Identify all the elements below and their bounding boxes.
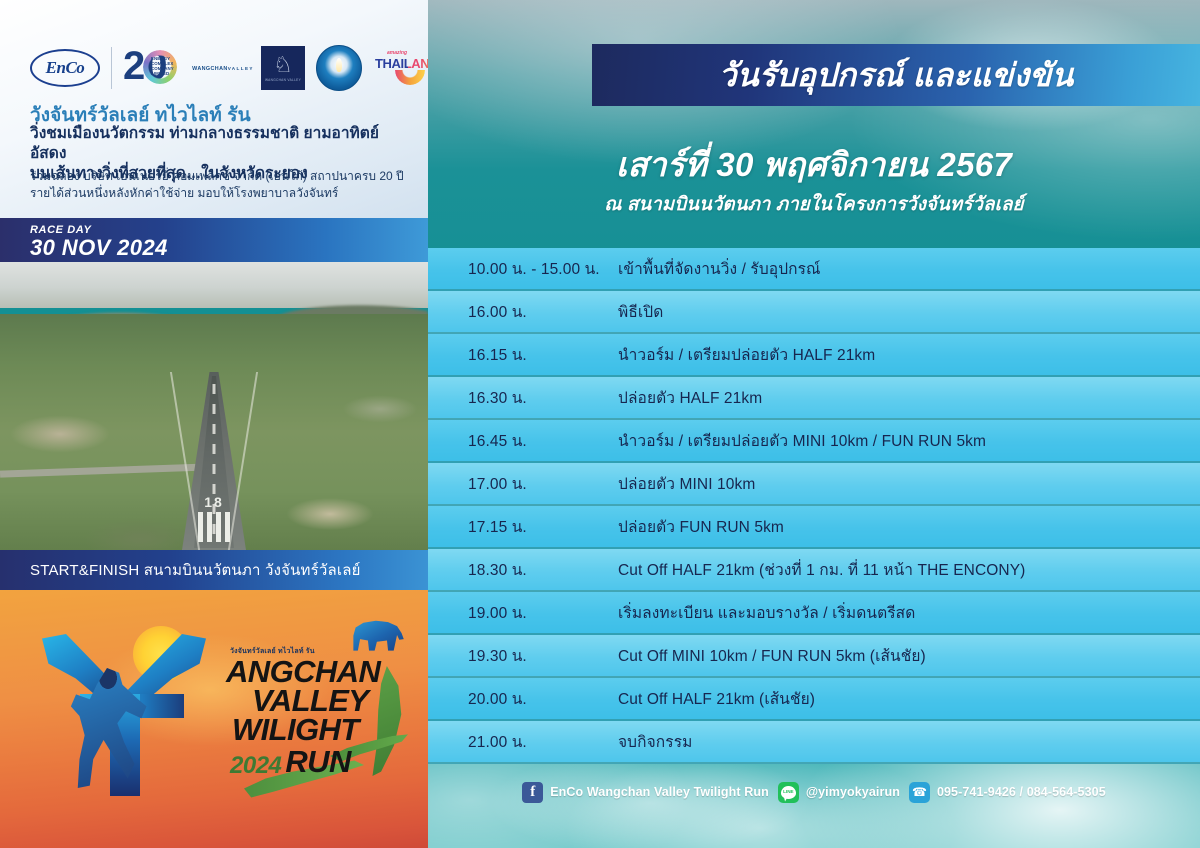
row-time: 16.45 น.: [428, 428, 618, 453]
table-row: 16.15 น. นำวอร์ม / เตรียมปล่อยตัว HALF 2…: [428, 334, 1200, 377]
phone-contact[interactable]: ☎ 095-741-9426 / 084-564-5305: [909, 782, 1106, 803]
start-finish-text: START&FINISH สนามบินนวัตนภา วังจันทร์วัล…: [30, 558, 361, 582]
photo-runway-threshold-bars: [198, 512, 230, 542]
footer-contact-bar: f EnCo Wangchan Valley Twilight Run LINE…: [428, 772, 1200, 812]
thailand-swoosh-icon: [395, 70, 425, 85]
row-time: 18.30 น.: [428, 557, 618, 582]
event-description-line1: ร่วมฉลอง บริษัท เอนเนอร์ยี่ คอมเพล็กซ์ จ…: [30, 168, 420, 185]
row-description: เริ่มลงทะเบียน และมอบรางวัล / เริ่มดนตรี…: [618, 600, 1200, 625]
table-row: 18.30 น. Cut Off HALF 21km (ช่วงที่ 1 กม…: [428, 549, 1200, 592]
sponsor-logo-strip: EnCo 20 ENERGY COMPLEX COMPANY LIMITED W…: [30, 42, 428, 94]
line-icon[interactable]: LINE: [778, 782, 799, 803]
facebook-label: EnCo Wangchan Valley Twilight Run: [550, 785, 769, 799]
row-description: Cut Off MINI 10km / FUN RUN 5km (เส้นชัย…: [618, 643, 1200, 668]
row-description: Cut Off HALF 21km (เส้นชัย): [618, 686, 1200, 711]
row-description: Cut Off HALF 21km (ช่วงที่ 1 กม. ที่ 11 …: [618, 557, 1200, 582]
event-logo-line4: 2024 RUN: [226, 744, 426, 780]
table-row: 19.00 น. เริ่มลงทะเบียน และมอบรางวัล / เ…: [428, 592, 1200, 635]
event-description: ร่วมฉลอง บริษัท เอนเนอร์ยี่ คอมเพล็กซ์ จ…: [30, 168, 420, 202]
row-description: นำวอร์ม / เตรียมปล่อยตัว HALF 21km: [618, 342, 1200, 367]
row-time: 16.15 น.: [428, 342, 618, 367]
row-description: นำวอร์ม / เตรียมปล่อยตัว MINI 10km / FUN…: [618, 428, 1200, 453]
row-description: ปล่อยตัว HALF 21km: [618, 385, 1200, 410]
table-row: 16.45 น. นำวอร์ม / เตรียมปล่อยตัว MINI 1…: [428, 420, 1200, 463]
race-day-band: RACE DAY 30 NOV 2024: [0, 218, 428, 262]
event-logo-panel: วังจันทร์วัลเลย์ ทไวไลท์ รัน ANGCHAN VAL…: [0, 590, 428, 848]
energy-complex-20-logo: 20 ENERGY COMPLEX COMPANY LIMITED: [123, 44, 185, 92]
table-row: 20.00 น. Cut Off HALF 21km (เส้นชัย): [428, 678, 1200, 721]
row-description: ปล่อยตัว MINI 10km: [618, 471, 1200, 496]
row-time: 16.00 น.: [428, 299, 618, 324]
event-venue: ณ สนามบินนวัตนภา ภายในโครงการวังจันทร์วั…: [428, 190, 1200, 219]
facebook-icon[interactable]: f: [522, 782, 543, 803]
schedule-table: 10.00 น. - 15.00 น. เข้าพื้นที่จัดงานวิ่…: [428, 248, 1200, 764]
table-row: 10.00 น. - 15.00 น. เข้าพื้นที่จัดงานวิ่…: [428, 248, 1200, 291]
event-logo-line3: WILIGHT: [226, 715, 426, 744]
wangchan-valley-label2: VALLEY: [228, 66, 254, 71]
event-logo-year: 2024: [230, 752, 281, 780]
row-time: 19.30 น.: [428, 643, 618, 668]
left-panel-header: EnCo 20 ENERGY COMPLEX COMPANY LIMITED W…: [0, 0, 428, 218]
event-logo-run: RUN: [285, 744, 350, 780]
row-time: 10.00 น. - 15.00 น.: [428, 256, 618, 281]
table-row: 17.00 น. ปล่อยตัว MINI 10km: [428, 463, 1200, 506]
start-finish-caption: START&FINISH สนามบินนวัตนภา วังจันทร์วัล…: [0, 550, 428, 590]
row-time: 19.00 น.: [428, 600, 618, 625]
event-description-line2: รายได้ส่วนหนึ่งหลังหักค่าใช้จ่าย มอบให้โ…: [30, 185, 420, 202]
row-description: จบกิจกรรม: [618, 729, 1200, 754]
phone-icon[interactable]: ☎: [909, 782, 930, 803]
ministry-seal-logo: [316, 45, 362, 91]
aerial-runway-photo: 18: [0, 262, 428, 550]
event-date-main: เสาร์ที่ 30 พฤศจิกายน 2567: [428, 138, 1200, 191]
enco-logo: EnCo: [30, 49, 100, 87]
header-banner: วันรับอุปกรณ์ และแข่งขัน: [592, 44, 1200, 106]
row-description: เข้าพื้นที่จัดงานวิ่ง / รับอุปกรณ์: [618, 256, 1200, 281]
row-time: 20.00 น.: [428, 686, 618, 711]
line-icon-text: LINE: [783, 790, 793, 795]
phone-label: 095-741-9426 / 084-564-5305: [937, 785, 1106, 799]
anniversary-caption: ENERGY COMPLEX COMPANY LIMITED: [151, 56, 183, 76]
event-subtitle-line1: วิ่งชมเมืองนวัตกรรม ท่ามกลางธรรมชาติ ยาม…: [30, 124, 415, 164]
facebook-contact[interactable]: f EnCo Wangchan Valley Twilight Run: [522, 782, 769, 803]
line-label: @yimyokyairun: [806, 785, 900, 799]
event-logo-wordmark: วังจันทร์วัลเลย์ ทไวไลท์ รัน ANGCHAN VAL…: [226, 646, 426, 780]
header-banner-title: วันรับอุปกรณ์ และแข่งขัน: [719, 50, 1074, 101]
thailand-label: THAILAND: [375, 56, 428, 71]
left-panel: EnCo 20 ENERGY COMPLEX COMPANY LIMITED W…: [0, 0, 428, 848]
table-row: 16.00 น. พิธีเปิด: [428, 291, 1200, 334]
row-description: พิธีเปิด: [618, 299, 1200, 324]
amazing-thailand-logo: amazing THAILAND: [373, 48, 428, 88]
row-description: ปล่อยตัว FUN RUN 5km: [618, 514, 1200, 539]
event-logo-line1: ANGCHAN: [226, 657, 426, 686]
row-time: 17.15 น.: [428, 514, 618, 539]
lion-emblem-caption: WANGCHAN VALLEY: [265, 78, 301, 82]
race-day-date: 30 NOV 2024: [30, 235, 168, 261]
line-bubble-shape: LINE: [781, 786, 796, 799]
table-row: 17.15 น. ปล่อยตัว FUN RUN 5km: [428, 506, 1200, 549]
table-row: 21.00 น. จบกิจกรรม: [428, 721, 1200, 764]
row-time: 17.00 น.: [428, 471, 618, 496]
line-contact[interactable]: LINE @yimyokyairun: [778, 782, 900, 803]
wangchan-valley-label: WANGCHAN: [192, 66, 228, 72]
event-logo-line2: VALLEY: [226, 686, 426, 715]
lion-emblem-logo: ♘ WANGCHAN VALLEY: [261, 46, 305, 90]
poster-root: EnCo 20 ENERGY COMPLEX COMPANY LIMITED W…: [0, 0, 1200, 848]
table-row: 19.30 น. Cut Off MINI 10km / FUN RUN 5km…: [428, 635, 1200, 678]
wt-monogram-mark: [42, 628, 232, 798]
lion-icon: ♘: [273, 54, 293, 76]
runway-number-marking: 18: [204, 494, 224, 510]
row-time: 21.00 น.: [428, 729, 618, 754]
row-time: 16.30 น.: [428, 385, 618, 410]
wangchan-valley-logo: WANGCHAN VALLEY: [196, 43, 250, 93]
logo-divider: [111, 47, 112, 89]
table-row: 16.30 น. ปล่อยตัว HALF 21km: [428, 377, 1200, 420]
